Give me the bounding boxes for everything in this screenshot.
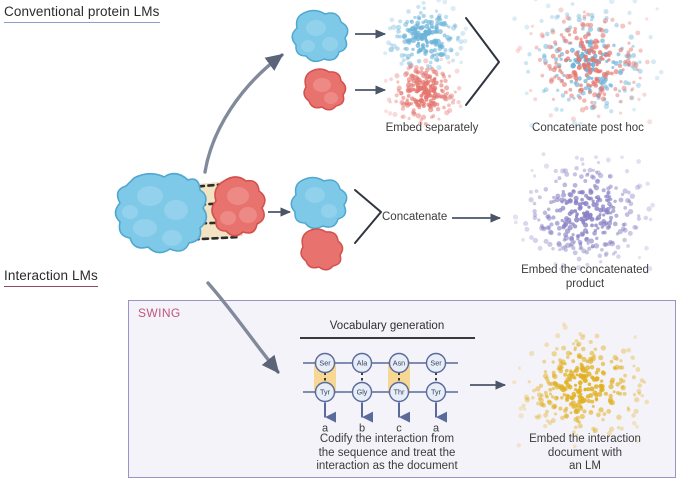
scatter-point <box>435 17 440 22</box>
merge-bracket-top <box>466 18 499 105</box>
scatter-point <box>440 80 443 83</box>
scatter-point <box>439 58 443 62</box>
scatter-point <box>599 260 602 263</box>
scatter-plot-concatenated-post-hoc <box>512 0 663 128</box>
scatter-point <box>463 39 468 44</box>
scatter-point <box>444 110 449 115</box>
scatter-point <box>579 122 583 126</box>
scatter-point <box>418 121 423 126</box>
scatter-point <box>561 263 566 268</box>
scatter-point <box>458 46 463 51</box>
scatter-point <box>524 394 529 399</box>
scatter-point <box>631 61 636 66</box>
scatter-point <box>423 58 428 63</box>
scatter-point <box>560 58 563 61</box>
scatter-point <box>607 202 612 207</box>
scatter-point <box>555 194 560 199</box>
scatter-point <box>621 348 626 353</box>
scatter-point <box>650 203 655 208</box>
scatter-point <box>644 216 649 221</box>
scatter-point <box>604 53 608 57</box>
scatter-point <box>608 83 612 87</box>
scatter-point <box>629 96 633 100</box>
scatter-point <box>454 90 457 93</box>
scatter-point <box>619 359 622 362</box>
scatter-point <box>403 72 408 77</box>
scatter-point <box>564 172 569 177</box>
scatter-point <box>540 224 544 228</box>
scatter-point <box>567 98 571 102</box>
scatter-point <box>603 412 607 416</box>
scatter-point <box>390 17 395 22</box>
scatter-point <box>632 81 635 84</box>
scatter-point <box>425 39 428 42</box>
scatter-point <box>565 369 569 373</box>
scatter-point <box>427 20 432 25</box>
scatter-point <box>540 74 544 78</box>
scatter-point <box>518 367 521 370</box>
scatter-point <box>589 340 593 344</box>
scatter-point <box>407 94 411 98</box>
scatter-point <box>602 58 605 61</box>
scatter-point <box>554 15 559 20</box>
scatter-point <box>574 51 579 56</box>
scatter-point <box>583 201 588 206</box>
scatter-point <box>409 39 412 42</box>
scatter-point <box>561 93 565 97</box>
scatter-point <box>531 396 534 399</box>
scatter-point <box>606 158 611 163</box>
protein-blob-blue-complex <box>116 174 207 253</box>
scatter-point <box>387 97 391 101</box>
scatter-point <box>455 52 459 56</box>
scatter-point <box>421 21 425 25</box>
scatter-point <box>419 70 424 75</box>
scatter-point <box>599 213 602 216</box>
scatter-point <box>533 97 537 101</box>
scatter-point <box>521 238 525 242</box>
scatter-point <box>430 30 435 35</box>
scatter-point <box>402 39 407 44</box>
scatter-point <box>564 39 569 44</box>
scatter-point <box>420 66 424 70</box>
scatter-point <box>539 397 544 402</box>
scatter-point <box>523 221 528 226</box>
scatter-point <box>574 201 579 206</box>
scatter-point <box>546 419 549 422</box>
scatter-point <box>517 46 522 51</box>
scatter-point <box>586 12 590 16</box>
scatter-point <box>593 184 597 188</box>
scatter-point <box>558 54 561 57</box>
scatter-point <box>598 50 603 55</box>
scatter-point <box>614 214 618 218</box>
scatter-point <box>443 79 447 83</box>
scatter-point <box>604 251 608 255</box>
scatter-point <box>549 392 552 395</box>
scatter-point <box>431 54 434 57</box>
scatter-point <box>632 225 637 230</box>
scatter-point <box>440 45 444 49</box>
scatter-point <box>406 98 409 101</box>
scatter-point <box>620 427 624 431</box>
scatter-point <box>580 198 584 202</box>
scatter-point <box>617 52 621 56</box>
protein-blob-blue-top <box>292 11 347 62</box>
scatter-point <box>422 14 426 18</box>
scatter-point <box>514 221 518 225</box>
scatter-point <box>656 7 659 10</box>
scatter-point <box>460 31 465 36</box>
scatter-point <box>605 87 609 91</box>
scatter-point <box>574 368 579 373</box>
scatter-point <box>626 348 631 353</box>
scatter-point <box>594 155 598 159</box>
scatter-point <box>560 168 565 173</box>
scatter-point <box>416 5 420 9</box>
scatter-point <box>604 195 608 199</box>
scatter-point <box>607 50 612 55</box>
scatter-point <box>561 206 566 211</box>
scatter-point <box>572 342 575 345</box>
scatter-point <box>557 226 562 231</box>
scatter-point <box>412 88 415 91</box>
scatter-point <box>580 157 584 161</box>
scatter-point <box>569 411 572 414</box>
scatter-point <box>589 410 594 415</box>
scatter-point <box>583 79 587 83</box>
scatter-point <box>590 375 594 379</box>
scatter-point <box>583 169 587 173</box>
scatter-point <box>536 401 540 405</box>
scatter-point <box>555 385 559 389</box>
scatter-point <box>638 256 641 259</box>
scatter-point <box>416 71 419 74</box>
scatter-point <box>601 418 604 421</box>
scatter-point <box>442 52 446 56</box>
scatter-point <box>574 166 578 170</box>
scatter-point <box>603 74 607 78</box>
scatter-point <box>430 15 434 19</box>
scatter-point <box>579 247 582 250</box>
scatter-point <box>455 69 460 74</box>
scatter-point <box>590 224 594 228</box>
scatter-point <box>569 369 572 372</box>
scatter-point <box>442 21 447 26</box>
scatter-point <box>564 216 569 221</box>
scatter-point <box>603 231 607 235</box>
scatter-point <box>585 73 589 77</box>
scatter-point <box>554 396 559 401</box>
scatter-point <box>552 67 557 72</box>
scatter-point <box>402 34 407 39</box>
scatter-point <box>575 82 580 87</box>
scatter-point <box>542 360 546 364</box>
scatter-point <box>524 227 529 232</box>
scatter-plot-blue-embedding <box>383 0 468 76</box>
scatter-point <box>413 100 417 104</box>
scatter-point <box>622 238 627 243</box>
scatter-point <box>410 83 414 87</box>
scatter-point <box>416 51 419 54</box>
scatter-point <box>434 24 438 28</box>
scatter-point <box>619 100 623 104</box>
scatter-point <box>606 186 610 190</box>
scatter-point <box>625 169 629 173</box>
scatter-point <box>577 420 581 424</box>
scatter-point <box>554 169 558 173</box>
scatter-point <box>577 257 582 262</box>
scatter-point <box>637 217 641 221</box>
scatter-point <box>581 376 585 380</box>
scatter-point <box>533 174 536 177</box>
scatter-point <box>595 196 598 199</box>
scatter-point <box>623 374 627 378</box>
scatter-point <box>614 69 619 74</box>
scatter-point <box>402 58 406 62</box>
scatter-point <box>394 100 398 104</box>
scatter-point <box>615 382 620 387</box>
scatter-point <box>593 427 598 432</box>
scatter-point <box>598 173 603 178</box>
vocabulary-code-letter: a <box>322 423 329 435</box>
scatter-point <box>401 114 406 119</box>
scatter-point <box>589 13 594 18</box>
scatter-point <box>637 383 642 388</box>
scatter-point <box>406 54 411 59</box>
scatter-point <box>554 61 557 64</box>
scatter-point <box>549 67 553 71</box>
scatter-point <box>579 217 584 222</box>
scatter-point <box>586 387 590 391</box>
scatter-point <box>601 96 606 101</box>
scatter-point <box>597 161 600 164</box>
scatter-point <box>529 32 532 35</box>
scatter-point <box>629 201 634 206</box>
scatter-point <box>598 254 603 258</box>
scatter-point <box>538 195 542 199</box>
scatter-point <box>591 104 596 109</box>
scatter-point <box>589 239 594 244</box>
scatter-point <box>569 209 574 214</box>
scatter-point <box>563 224 566 227</box>
scatter-point <box>547 208 551 212</box>
scatter-point <box>596 376 600 380</box>
scatter-point <box>547 400 552 405</box>
scatter-point <box>635 30 640 35</box>
scatter-point <box>592 57 596 61</box>
scatter-point <box>620 24 625 29</box>
scatter-point <box>549 79 554 84</box>
scatter-point <box>623 392 627 396</box>
scatter-point <box>586 172 589 175</box>
scatter-point <box>601 362 605 366</box>
scatter-point <box>431 95 436 100</box>
scatter-point <box>601 345 606 350</box>
scatter-point <box>540 19 544 23</box>
scatter-point <box>547 44 552 49</box>
scatter-point <box>426 82 430 86</box>
scatter-point <box>418 103 422 107</box>
scatter-point <box>444 48 448 52</box>
scatter-point <box>592 390 597 395</box>
scatter-point <box>399 62 403 66</box>
scatter-point <box>567 385 572 390</box>
scatter-point <box>590 46 594 50</box>
scatter-point <box>388 111 393 116</box>
scatter-point <box>571 233 574 236</box>
scatter-point <box>577 58 582 63</box>
scatter-point <box>614 367 618 371</box>
scatter-point <box>558 407 562 411</box>
scatter-point <box>573 376 576 379</box>
scatter-point <box>588 168 593 173</box>
scatter-point <box>416 43 421 48</box>
scatter-point <box>595 371 599 375</box>
scatter-point <box>590 101 593 104</box>
scatter-point <box>560 71 563 74</box>
scatter-point <box>578 380 583 385</box>
scatter-point <box>590 174 594 178</box>
residue-label: Thr <box>394 388 405 397</box>
scatter-point <box>630 89 633 92</box>
scatter-point <box>394 73 399 78</box>
scatter-point <box>603 18 608 23</box>
scatter-point <box>435 10 438 13</box>
figure-canvas: SerAlaAsnSerTyrGlyThrTyrabca <box>0 0 685 483</box>
scatter-point <box>629 34 634 39</box>
scatter-point <box>544 391 548 395</box>
scatter-point <box>571 189 576 194</box>
scatter-point <box>419 11 423 15</box>
scatter-point <box>588 90 592 94</box>
scatter-point <box>544 61 548 65</box>
scatter-point <box>595 203 599 207</box>
merge-bracket-middle <box>355 190 381 243</box>
scatter-point <box>411 48 414 51</box>
scatter-point <box>571 392 576 397</box>
scatter-point <box>571 116 576 121</box>
scatter-point <box>451 6 456 11</box>
scatter-point <box>622 379 626 383</box>
scatter-point <box>578 423 583 428</box>
scatter-point <box>608 384 613 389</box>
scatter-point <box>636 159 641 164</box>
scatter-point <box>623 80 628 85</box>
scatter-point <box>568 33 571 36</box>
scatter-point <box>425 44 428 47</box>
scatter-point <box>419 98 424 103</box>
scatter-point <box>575 339 579 343</box>
scatter-point <box>436 0 441 3</box>
scatter-point <box>621 385 626 390</box>
scatter-point <box>554 412 557 415</box>
scatter-point <box>388 26 392 30</box>
scatter-point <box>614 23 619 28</box>
scatter-point <box>592 82 597 87</box>
scatter-point <box>529 190 533 194</box>
scatter-point <box>432 89 435 92</box>
scatter-point <box>533 216 537 220</box>
scatter-point <box>583 388 586 391</box>
scatter-point <box>582 98 586 102</box>
residue-label: Gly <box>357 388 368 397</box>
scatter-point <box>583 398 588 403</box>
scatter-point <box>518 413 523 418</box>
scatter-point <box>592 405 595 408</box>
scatter-point <box>595 171 598 174</box>
scatter-point <box>562 190 565 193</box>
scatter-point <box>585 263 589 267</box>
scatter-point <box>616 415 621 420</box>
scatter-point <box>552 387 555 390</box>
scatter-point <box>431 101 435 105</box>
scatter-point <box>583 179 587 183</box>
scatter-point <box>392 112 397 117</box>
scatter-point <box>623 206 627 210</box>
scatter-point <box>565 377 570 382</box>
scatter-point <box>558 248 561 251</box>
scatter-point <box>552 196 555 199</box>
scatter-point <box>535 189 539 193</box>
scatter-point <box>619 80 622 83</box>
scatter-point <box>618 60 622 64</box>
scatter-point <box>563 238 566 241</box>
scatter-point <box>606 409 611 414</box>
scatter-point <box>396 80 399 83</box>
scatter-point <box>457 86 461 90</box>
scatter-point <box>384 79 388 83</box>
scatter-point <box>614 186 618 190</box>
scatter-point <box>587 205 590 208</box>
scatter-point <box>612 44 616 48</box>
scatter-point <box>586 23 590 27</box>
scatter-point <box>436 107 440 111</box>
scatter-point <box>583 15 587 19</box>
scatter-point <box>600 38 605 43</box>
scatter-point <box>594 384 599 389</box>
scatter-point <box>633 393 636 396</box>
scatter-point <box>609 0 614 4</box>
scatter-point <box>526 70 530 74</box>
scatter-point <box>560 33 564 37</box>
scatter-point <box>585 237 589 241</box>
scatter-point <box>588 67 592 71</box>
scatter-point <box>623 228 628 233</box>
scatter-point <box>533 202 537 206</box>
scatter-point <box>422 47 425 50</box>
scatter-point <box>566 394 571 399</box>
scatter-point <box>622 86 627 91</box>
scatter-point <box>542 403 546 407</box>
scatter-point <box>566 56 570 60</box>
scatter-point <box>439 83 443 87</box>
scatter-point <box>622 68 625 71</box>
scatter-point <box>580 88 584 92</box>
scatter-point <box>513 214 518 219</box>
scatter-point <box>512 380 516 384</box>
scatter-point <box>416 113 421 118</box>
scatter-point <box>447 61 450 64</box>
scatter-point <box>609 380 614 385</box>
scatter-point <box>553 262 557 266</box>
scatter-point <box>659 70 664 75</box>
scatter-point <box>581 46 586 51</box>
scatter-point <box>557 232 561 236</box>
scatter-point <box>635 185 640 190</box>
scatter-point <box>603 9 608 14</box>
scatter-plot-interaction-embedding <box>512 322 649 448</box>
